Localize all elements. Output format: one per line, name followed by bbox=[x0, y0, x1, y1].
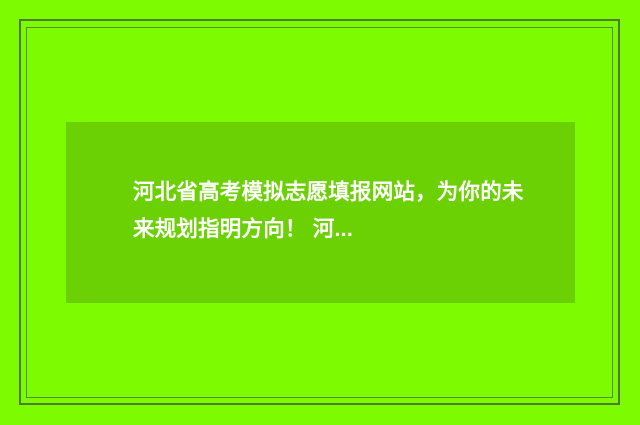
poster-canvas: 河北省高考模拟志愿填报网站，为你的未来规划指明方向！ 河... bbox=[0, 0, 640, 425]
headline-panel: 河北省高考模拟志愿填报网站，为你的未来规划指明方向！ 河... bbox=[66, 122, 575, 303]
headline-text: 河北省高考模拟志愿填报网站，为你的未来规划指明方向！ 河... bbox=[133, 174, 533, 248]
